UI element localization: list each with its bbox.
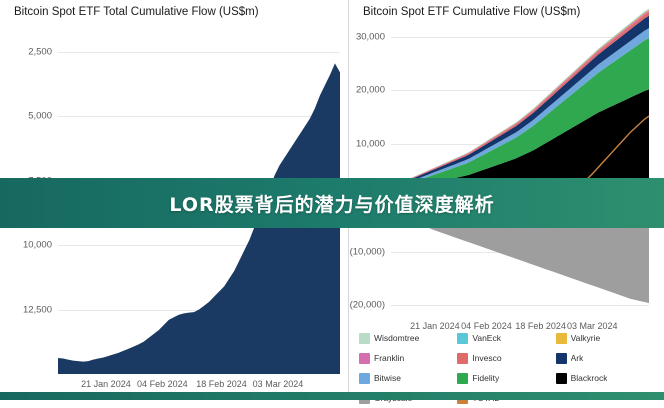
legend-item[interactable]: Wisdomtree	[359, 328, 457, 348]
right-stacked-area-series	[391, 26, 649, 316]
right-plot-area: 30,00020,00010,000(10,000)(20,000)21 Jan…	[391, 26, 649, 316]
right-chart-title: Bitcoin Spot ETF Cumulative Flow (US$m)	[363, 6, 580, 18]
legend-swatch-icon	[457, 333, 468, 344]
legend-item[interactable]: Blackrock	[556, 368, 654, 388]
x-axis-tick: 18 Feb 2024	[196, 379, 247, 389]
left-chart-title: Bitcoin Spot ETF Total Cumulative Flow (…	[14, 6, 259, 18]
legend-swatch-icon	[556, 353, 567, 364]
legend-label: Invesco	[472, 353, 501, 363]
x-axis-tick: 21 Jan 2024	[81, 379, 131, 389]
y-axis-tick: 30,000	[356, 31, 385, 42]
legend-label: Valkyrie	[571, 333, 601, 343]
legend-swatch-icon	[457, 353, 468, 364]
legend-label: Blackrock	[571, 373, 608, 383]
legend-swatch-icon	[359, 333, 370, 344]
y-axis-tick: 12,500	[23, 304, 52, 315]
legend-label: Wisdomtree	[374, 333, 419, 343]
x-axis-tick: 03 Mar 2024	[253, 379, 304, 389]
legend-swatch-icon	[359, 373, 370, 384]
overlay-banner-text: LOR股票背后的潜力与价值深度解析	[169, 190, 494, 217]
legend-swatch-icon	[556, 373, 567, 384]
legend-item[interactable]: Franklin	[359, 348, 457, 368]
legend-swatch-icon	[457, 373, 468, 384]
legend-item[interactable]: Fidelity	[457, 368, 555, 388]
y-axis-tick: 10,000	[356, 139, 385, 150]
legend-label: VanEck	[472, 333, 501, 343]
y-axis-tick: (10,000)	[350, 246, 385, 257]
legend-item[interactable]: Valkyrie	[556, 328, 654, 348]
legend-item[interactable]: Bitwise	[359, 368, 457, 388]
legend-label: Franklin	[374, 353, 404, 363]
overlay-banner: LOR股票背后的潜力与价值深度解析	[0, 178, 664, 228]
bottom-accent-bar	[0, 392, 664, 400]
chart-legend: WisdomtreeVanEckValkyrieFranklinInvescoA…	[349, 322, 664, 400]
y-axis-tick: 2,500	[28, 46, 52, 57]
y-axis-tick: 10,000	[23, 240, 52, 251]
legend-swatch-icon	[359, 353, 370, 364]
legend-label: Ark	[571, 353, 584, 363]
legend-item[interactable]: Ark	[556, 348, 654, 368]
y-axis-tick: 5,000	[28, 111, 52, 122]
x-axis-tick: 04 Feb 2024	[137, 379, 188, 389]
legend-swatch-icon	[556, 333, 567, 344]
legend-label: Fidelity	[472, 373, 499, 383]
y-axis-tick: (20,000)	[350, 300, 385, 311]
legend-label: Bitwise	[374, 373, 401, 383]
legend-item[interactable]: Invesco	[457, 348, 555, 368]
y-axis-tick: 20,000	[356, 85, 385, 96]
legend-item[interactable]: VanEck	[457, 328, 555, 348]
